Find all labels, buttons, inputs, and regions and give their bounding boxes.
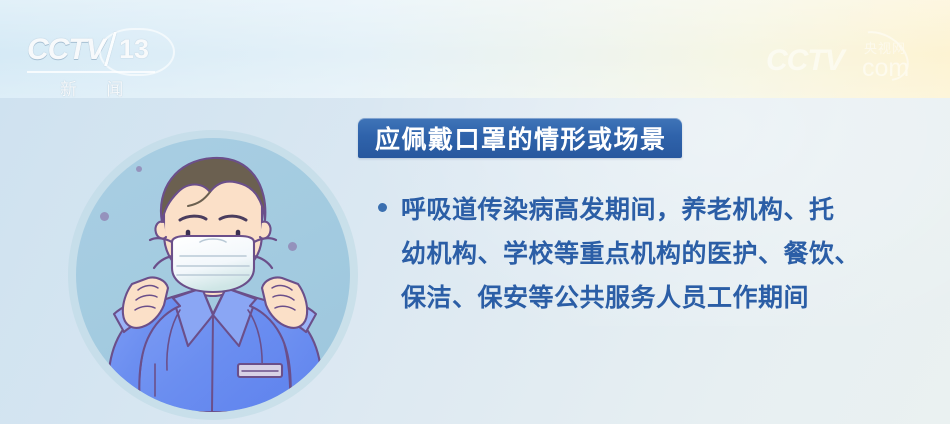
bullet-text-lines: 呼吸道传染病高发期间，养老机构、托 幼机构、学校等重点机构的医护、餐饮、 保洁、… xyxy=(401,188,898,320)
bullet-dot-icon xyxy=(378,203,387,212)
broadcast-slide: CCTV 13 新 闻 CCTV 央视网 com xyxy=(0,0,950,424)
slide-title-text: 应佩戴口罩的情形或场景 xyxy=(375,120,667,156)
bullet-line: 呼吸道传染病高发期间，养老机构、托 xyxy=(401,188,898,232)
slide-bullet-list: 呼吸道传染病高发期间，养老机构、托 幼机构、学校等重点机构的医护、餐饮、 保洁、… xyxy=(378,188,898,320)
face-mask xyxy=(172,236,254,292)
bullet-line: 保洁、保安等公共服务人员工作期间 xyxy=(401,276,898,320)
bullet-item: 呼吸道传染病高发期间，养老机构、托 幼机构、学校等重点机构的医护、餐饮、 保洁、… xyxy=(378,188,898,320)
cctv-logo-underline xyxy=(27,71,155,73)
bullet-line: 幼机构、学校等重点机构的医护、餐饮、 xyxy=(401,232,898,276)
watermark-network-text: CCTV xyxy=(766,44,844,78)
watermark-domain-suffix: com xyxy=(862,54,909,83)
cctv-logo-channel-number: 13 xyxy=(119,34,149,65)
cctv-logo-channel-name: 新 闻 xyxy=(60,75,135,100)
cctv-com-watermark: CCTV 央视网 com xyxy=(744,36,934,92)
person-wearing-mask-illustration xyxy=(62,124,362,424)
cctv13-logo: CCTV 13 新 闻 xyxy=(27,33,177,95)
masked-person-figure xyxy=(76,138,350,412)
illustration-circle xyxy=(76,138,350,412)
slide-title-banner: 应佩戴口罩的情形或场景 xyxy=(358,118,682,158)
cctv-logo-network-text: CCTV xyxy=(27,33,105,67)
